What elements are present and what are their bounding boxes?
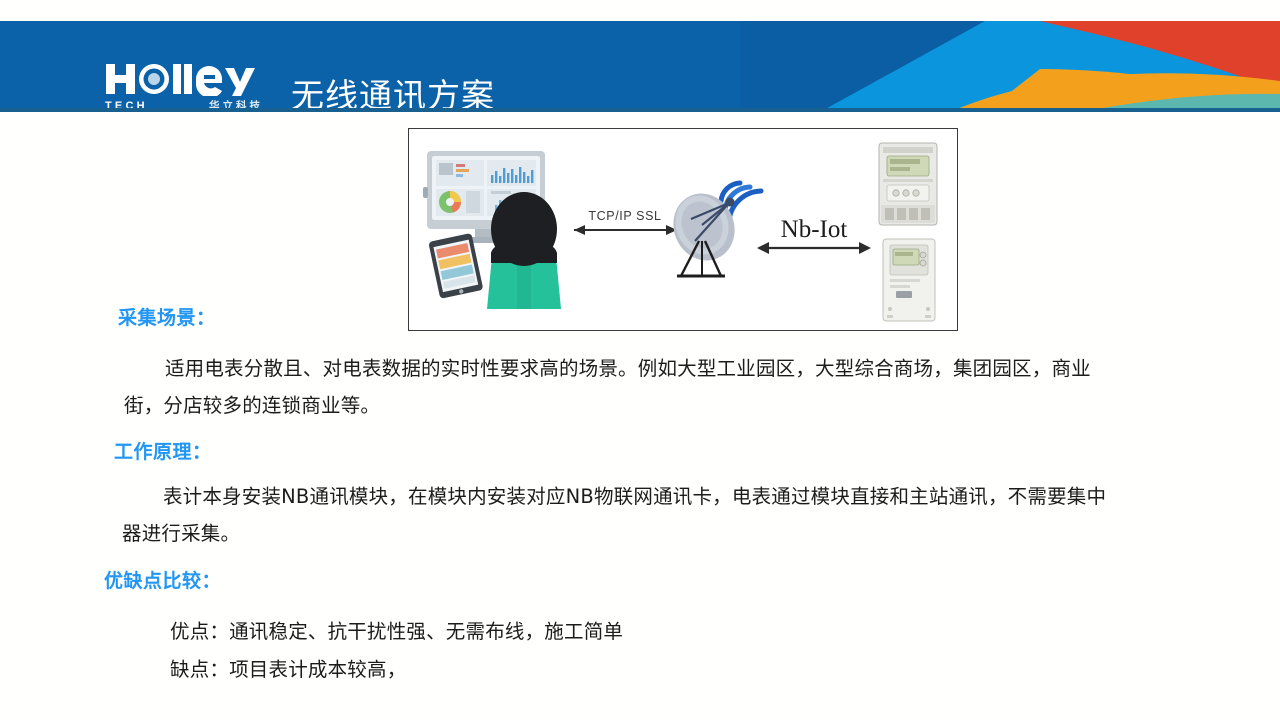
link-nbiot-label: Nb-Iot [781,216,848,243]
working-principle-line-1: 表计本身安装NB通讯模块，在模块内安装对应NB物联网通讯卡，电表通过模块直接和主… [163,485,1106,508]
master-station-operator-icon [423,151,561,309]
section-body-collection-scenario: 适用电表分散且、对电表数据的实时性要求高的场景。例如大型工业园区，大型综合商场，… [124,350,1214,424]
cons-line: 缺点：项目表计成本较高， [170,653,406,682]
holley-logo: TECH 华立科技 [104,62,264,112]
section-heading-collection-scenario: 采集场景： [118,303,216,330]
topology-diagram-svg: TCP/IP SSL [409,129,956,329]
header-decorative-swoosh [740,21,1280,112]
page-title: 无线通讯方案 [291,69,495,112]
topology-figure: TCP/IP SSL [408,128,958,331]
section-heading-pros-cons: 优缺点比较： [104,566,221,593]
collection-scenario-line-2: 街，分店较多的连锁商业等。 [124,394,380,417]
working-principle-line-2: 器进行采集。 [122,522,240,545]
holley-wordmark-icon [104,62,264,96]
electricity-meter-bottom-icon [883,239,935,321]
section-body-working-principle: 表计本身安装NB通讯模块，在模块内安装对应NB物联网通讯卡，电表通过模块直接和主… [122,478,1212,552]
satellite-dish-icon [663,183,761,276]
collection-scenario-line-1: 适用电表分散且、对电表数据的实时性要求高的场景。例如大型工业园区，大型综合商场，… [165,357,1091,380]
slide-header: TECH 华立科技 无线通讯方案 [0,21,1280,112]
slide-root: TECH 华立科技 无线通讯方案 [0,0,1280,720]
header-bottom-rule [0,108,1280,112]
link-nbiot: Nb-Iot [757,216,871,254]
pros-line: 优点：通讯稳定、抗干扰性强、无需布线，施工简单 [170,615,623,644]
section-heading-working-principle: 工作原理： [114,437,212,464]
link-tcpip-ssl: TCP/IP SSL [574,209,677,235]
link-tcpip-ssl-label: TCP/IP SSL [588,209,661,223]
electricity-meter-top-icon [879,143,937,225]
